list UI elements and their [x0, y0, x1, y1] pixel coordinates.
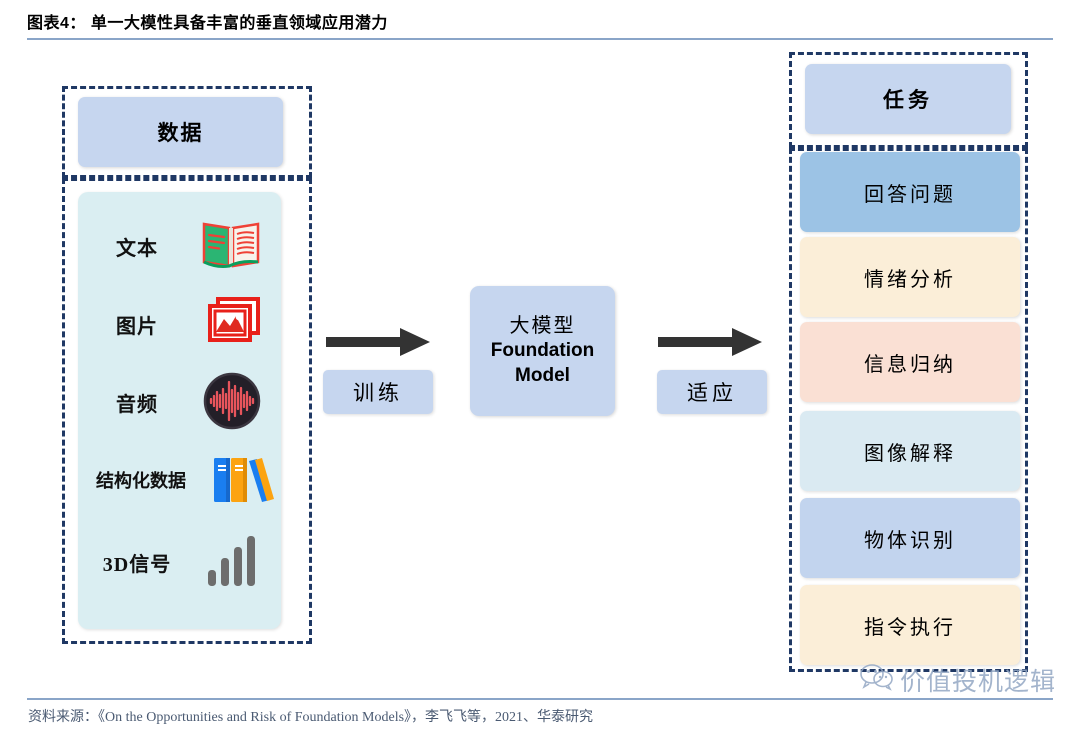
- modality-label-text: 文本: [78, 232, 196, 261]
- task-header-card[interactable]: 任务: [805, 64, 1011, 134]
- modality-label-audio: 音频: [78, 388, 196, 417]
- train-label-chip[interactable]: 训练: [323, 370, 433, 414]
- modality-label-image: 图片: [78, 310, 196, 339]
- data-header-card[interactable]: 数据: [78, 97, 283, 167]
- task-card-1[interactable]: 情绪分析: [800, 237, 1020, 317]
- foundation-model-box[interactable]: 大模型 Foundation Model: [470, 286, 615, 416]
- task-card-3[interactable]: 图像解释: [800, 411, 1020, 491]
- task-card-5[interactable]: 指令执行: [800, 585, 1020, 665]
- modality-row-3dsignal[interactable]: 3D信号: [78, 522, 281, 602]
- source-note: 资料来源：《On the Opportunities and Risk of F…: [28, 706, 593, 726]
- modality-row-image[interactable]: 图片: [78, 284, 281, 364]
- foundation-model-en-line2: Model: [491, 364, 594, 388]
- arrow-right-icon-train: [326, 325, 432, 359]
- adapt-label-chip[interactable]: 适应: [657, 370, 767, 414]
- modality-row-text[interactable]: 文本: [78, 206, 281, 286]
- task-card-0[interactable]: 回答问题: [800, 152, 1020, 232]
- foundation-model-en-line1: Foundation: [491, 339, 594, 363]
- modality-label-structured: 结构化数据: [78, 467, 204, 493]
- books-icon: [204, 448, 274, 512]
- page-title: 图表4： 单一大模性具备丰富的垂直领域应用潜力: [27, 9, 388, 33]
- audio-waveform-icon: [196, 370, 266, 434]
- images-icon: [196, 292, 266, 356]
- arrow-right-icon-adapt: [658, 325, 764, 359]
- signal-bars-icon: [196, 530, 266, 594]
- task-card-2[interactable]: 信息归纳: [800, 322, 1020, 402]
- modality-row-structured[interactable]: 结构化数据: [78, 440, 281, 520]
- footer-divider: [27, 698, 1053, 700]
- modality-label-3dsignal: 3D信号: [78, 548, 196, 577]
- foundation-model-en: Foundation Model: [491, 339, 594, 388]
- book-icon: [196, 214, 266, 278]
- foundation-model-cn: 大模型: [510, 314, 576, 340]
- task-card-4[interactable]: 物体识别: [800, 498, 1020, 578]
- modality-row-audio[interactable]: 音频: [78, 362, 281, 442]
- chart-figure: 图表4： 单一大模性具备丰富的垂直领域应用潜力 数据 文本: [0, 0, 1080, 730]
- title-divider: [27, 38, 1053, 40]
- data-modalities-panel: 文本: [78, 192, 281, 629]
